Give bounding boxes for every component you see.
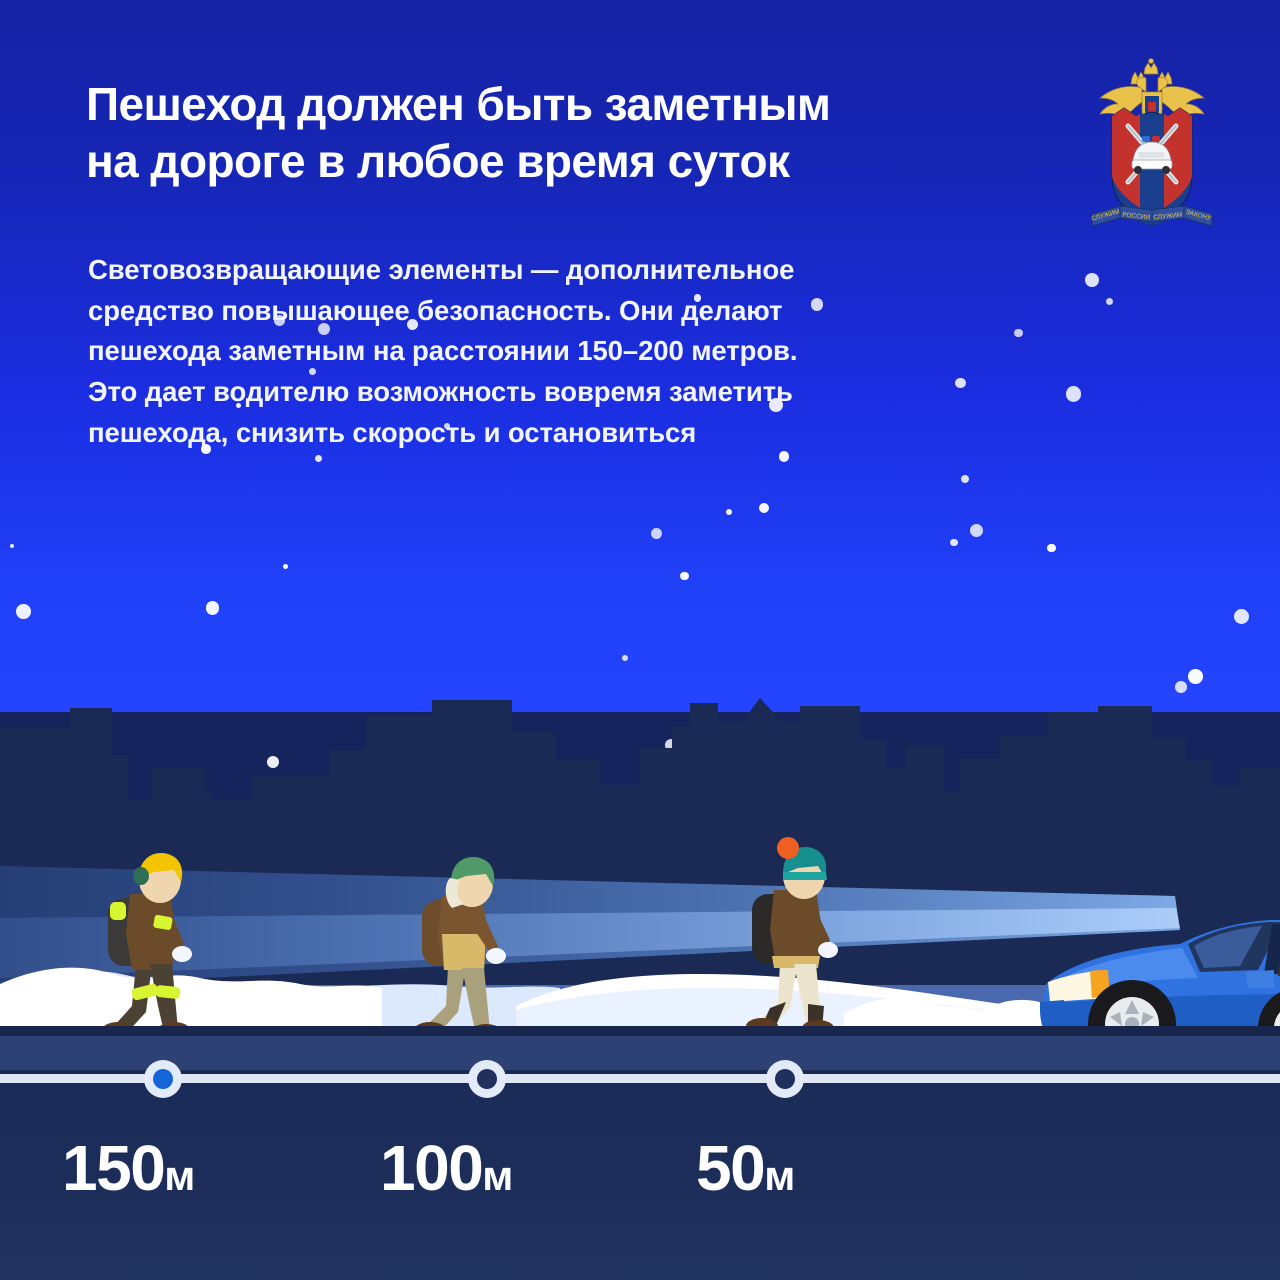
poster-root: 150м100м50м Пешеход должен быть заметным… bbox=[0, 0, 1280, 1280]
curb-shadow bbox=[0, 1026, 1280, 1036]
snowflake bbox=[651, 528, 662, 539]
snowflake bbox=[1085, 273, 1099, 287]
page-title: Пешеход должен быть заметным на дороге в… bbox=[86, 76, 1046, 190]
snowflake bbox=[970, 524, 983, 537]
pompom bbox=[777, 837, 799, 859]
pedestrian-100m bbox=[408, 842, 522, 1040]
snowflake bbox=[950, 539, 957, 546]
snowflake bbox=[1066, 386, 1081, 401]
reflector-backpack bbox=[110, 902, 126, 920]
page-description: Световозвращающие элементы — дополнитель… bbox=[88, 250, 1008, 453]
pedestrian-150m bbox=[92, 836, 210, 1042]
gibdd-mvd-emblem: СЛУЖИМ РОССИИ СЛУЖИМ ЗАКОНУ bbox=[1084, 58, 1220, 233]
reflector-leg-front bbox=[155, 985, 180, 999]
road-lower bbox=[0, 1082, 1280, 1280]
snowflake bbox=[961, 475, 969, 483]
snowflake bbox=[1014, 329, 1022, 337]
snowflake bbox=[283, 564, 288, 569]
distance-timeline-rail bbox=[0, 1074, 1280, 1083]
snowflake bbox=[16, 604, 31, 619]
snowflake bbox=[10, 544, 14, 548]
snowflake bbox=[680, 572, 688, 580]
snowflake bbox=[1234, 609, 1249, 624]
pedestrian-50m bbox=[738, 826, 854, 1038]
snowflake bbox=[759, 503, 769, 513]
snowflake bbox=[315, 455, 322, 462]
snowflake bbox=[1047, 544, 1056, 553]
snowflake bbox=[1106, 298, 1113, 305]
snowflake bbox=[206, 601, 220, 615]
snowflake bbox=[726, 509, 732, 515]
